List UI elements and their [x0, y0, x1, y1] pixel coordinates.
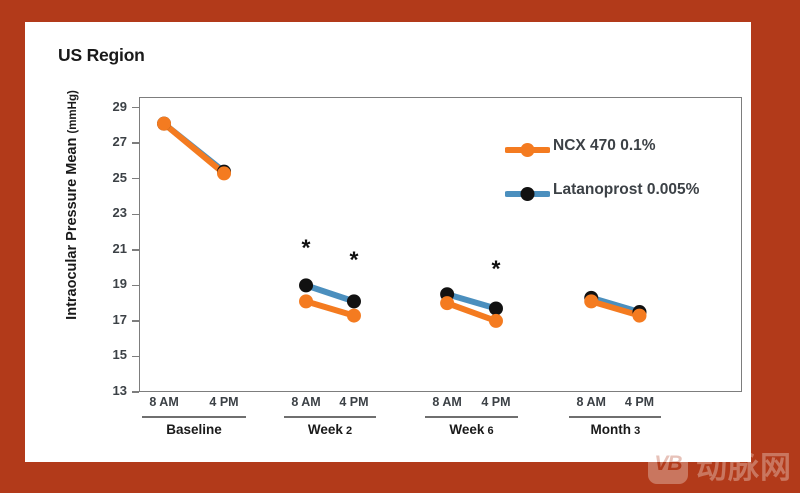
x-axis-group-rule	[142, 416, 246, 418]
x-axis-group-label: Baseline	[138, 422, 250, 437]
x-axis-group-label-sub: 2	[343, 425, 352, 437]
x-axis-time-label: 4 PM	[209, 395, 238, 409]
y-tick-label: 25	[113, 170, 127, 185]
x-axis-group-rule	[284, 416, 376, 418]
legend-item[interactable]: NCX 470 0.1%	[505, 135, 735, 179]
y-tick-label: 19	[113, 276, 127, 291]
x-axis-time-labels: 8 AM4 PM	[421, 392, 522, 412]
legend: NCX 470 0.1%Latanoprost 0.005%	[505, 135, 735, 223]
x-axis-time-label: 4 PM	[625, 395, 654, 409]
x-axis-group-label-text: Week	[449, 422, 484, 437]
x-axis-time-label: 8 AM	[432, 395, 461, 409]
x-axis-time-label: 4 PM	[481, 395, 510, 409]
legend-item[interactable]: Latanoprost 0.005%	[505, 179, 735, 223]
x-axis-time-labels: 8 AM4 PM	[565, 392, 665, 412]
legend-marker-icon	[505, 141, 550, 159]
x-axis-group: 8 AM4 PMWeek 2	[280, 392, 380, 454]
watermark: VB 动脉网	[648, 441, 792, 487]
y-tick-mark	[132, 320, 139, 322]
x-axis-group-label: Month 3	[565, 422, 665, 437]
legend-label: Latanoprost 0.005%	[553, 181, 699, 199]
x-axis-group-label-text: Week	[308, 422, 343, 437]
y-tick-mark	[132, 249, 139, 251]
y-tick-label: 17	[113, 312, 127, 327]
x-axis-group-label-sub: 6	[484, 425, 493, 437]
legend-marker-icon	[505, 185, 550, 203]
x-axis-group-rule	[569, 416, 661, 418]
x-axis-time-labels: 8 AM4 PM	[138, 392, 250, 412]
x-axis-time-labels: 8 AM4 PM	[280, 392, 380, 412]
x-axis-group-label-text: Month	[591, 422, 631, 437]
x-axis-group: 8 AM4 PMBaseline	[138, 392, 250, 454]
y-tick-mark	[132, 178, 139, 180]
y-tick-mark	[132, 214, 139, 216]
y-axis-ticks: 131517192123252729	[25, 97, 139, 392]
figure-frame: US Region Intraocular Pressure Mean (mmH…	[0, 0, 800, 493]
y-tick-mark	[132, 285, 139, 287]
chart-card: US Region Intraocular Pressure Mean (mmH…	[25, 22, 751, 462]
x-axis-group-rule	[425, 416, 518, 418]
x-axis-group-label-text: Baseline	[166, 422, 222, 437]
x-axis-time-label: 8 AM	[577, 395, 606, 409]
y-tick-label: 21	[113, 241, 127, 256]
x-axis-group-label-sub: 3	[631, 425, 640, 437]
legend-label: NCX 470 0.1%	[553, 137, 656, 155]
y-tick-label: 13	[113, 383, 127, 398]
watermark-logo-icon: VB	[648, 444, 688, 484]
y-tick-mark	[132, 142, 139, 144]
y-tick-label: 15	[113, 347, 127, 362]
x-axis-group: 8 AM4 PMWeek 6	[421, 392, 522, 454]
x-axis-time-label: 4 PM	[339, 395, 368, 409]
x-axis-group-label: Week 2	[280, 422, 380, 437]
y-tick-label: 27	[113, 134, 127, 149]
y-tick-mark	[132, 356, 139, 358]
y-tick-mark	[132, 107, 139, 109]
y-tick-label: 29	[113, 99, 127, 114]
x-axis-time-label: 8 AM	[291, 395, 320, 409]
watermark-text: 动脉网	[696, 442, 792, 487]
x-axis-group-label: Week 6	[421, 422, 522, 437]
y-tick-label: 23	[113, 205, 127, 220]
x-axis-time-label: 8 AM	[149, 395, 178, 409]
